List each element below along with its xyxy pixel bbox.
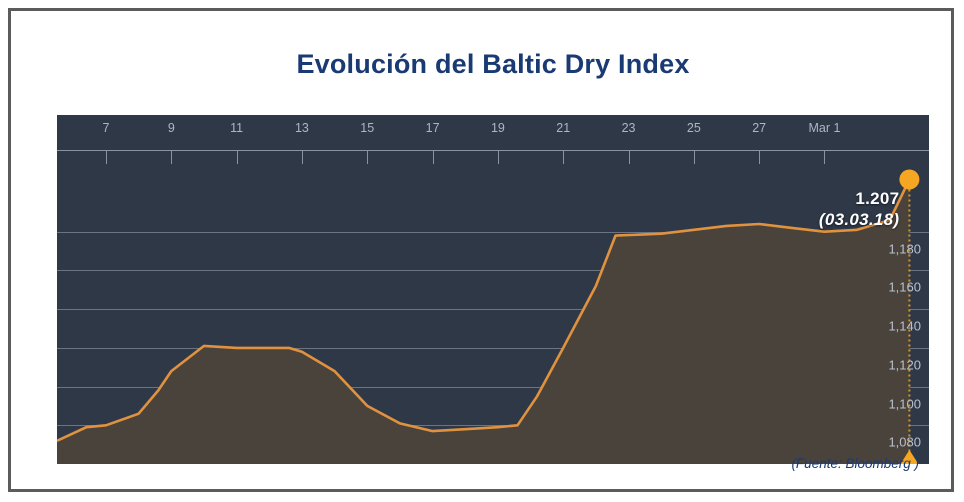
x-tick-label: 9 [168, 121, 175, 135]
x-tick-mark [563, 151, 564, 164]
x-tick-mark [498, 151, 499, 164]
x-tick-mark [629, 151, 630, 164]
x-tick-mark [106, 151, 107, 164]
x-tick-label: 15 [360, 121, 374, 135]
page-title: Evolución del Baltic Dry Index [11, 49, 964, 80]
highlight-value-label: 1.207 [749, 189, 899, 209]
x-tick-label: 23 [622, 121, 636, 135]
x-tick-label: 25 [687, 121, 701, 135]
source-note: (Fuente: Bloomberg ) [791, 456, 919, 471]
y-tick-label: 1,100 [888, 396, 921, 411]
y-tick-label: 1,080 [888, 435, 921, 450]
y-tick-label: 1,120 [888, 357, 921, 372]
x-tick-mark [237, 151, 238, 164]
x-tick-label: 17 [426, 121, 440, 135]
x-tick-mark [824, 151, 825, 164]
x-tick-label: 13 [295, 121, 309, 135]
x-tick-mark [694, 151, 695, 164]
chart-frame: Evolución del Baltic Dry Index 791113151… [8, 8, 954, 492]
x-tick-label: 19 [491, 121, 505, 135]
highlight-date-label: (03.03.18) [749, 210, 899, 230]
x-tick-label: 21 [556, 121, 570, 135]
x-tick-mark [367, 151, 368, 164]
x-tick-label: 7 [103, 121, 110, 135]
x-tick-mark [433, 151, 434, 164]
y-tick-label: 1,140 [888, 319, 921, 334]
x-tick-mark [171, 151, 172, 164]
x-axis-rule [57, 150, 929, 151]
x-tick-mark [302, 151, 303, 164]
x-axis-label-row: 79111315171921232527Mar 1 [57, 115, 929, 150]
x-tick-mark [759, 151, 760, 164]
y-tick-label: 1,160 [888, 280, 921, 295]
highlight-point-marker[interactable] [899, 169, 919, 189]
x-tick-label: 27 [752, 121, 766, 135]
chart-panel: 79111315171921232527Mar 1 1,1801,1601,14… [57, 115, 929, 464]
y-tick-label: 1,180 [888, 241, 921, 256]
x-tick-label: 11 [230, 121, 243, 135]
x-tick-label: Mar 1 [809, 121, 841, 135]
